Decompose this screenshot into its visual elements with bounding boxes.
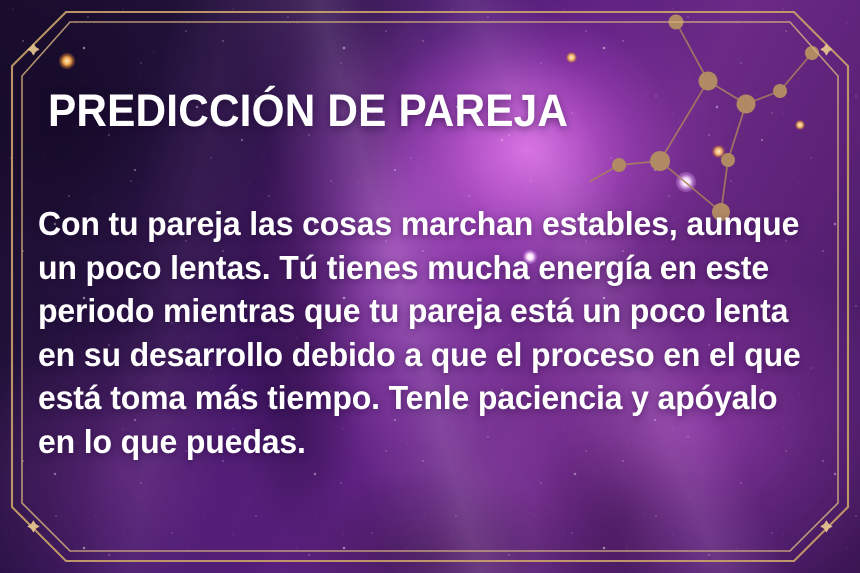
constellation-lines bbox=[590, 22, 812, 212]
prediction-body-text: Con tu pareja las cosas marchan estables… bbox=[38, 203, 802, 464]
glow-star-orange-midright bbox=[795, 120, 805, 130]
glow-star-orange-topleft bbox=[59, 53, 75, 69]
page-title: PREDICCIÓN DE PAREJA bbox=[48, 88, 568, 133]
glow-star-orange-upper bbox=[566, 52, 577, 63]
sparkle-topleft-icon bbox=[27, 43, 39, 55]
glow-star-orange-right bbox=[712, 145, 725, 158]
constellation-nodes bbox=[612, 15, 819, 222]
constellation-graphic bbox=[590, 0, 860, 230]
sparkle-bottomleft-icon bbox=[27, 520, 39, 532]
horoscope-prediction-card: PREDICCIÓN DE PAREJA Con tu pareja las c… bbox=[0, 0, 860, 573]
sparkle-topright-icon bbox=[820, 43, 832, 55]
sparkle-bottomright-icon bbox=[820, 520, 832, 532]
glow-star-white-center bbox=[676, 172, 696, 192]
